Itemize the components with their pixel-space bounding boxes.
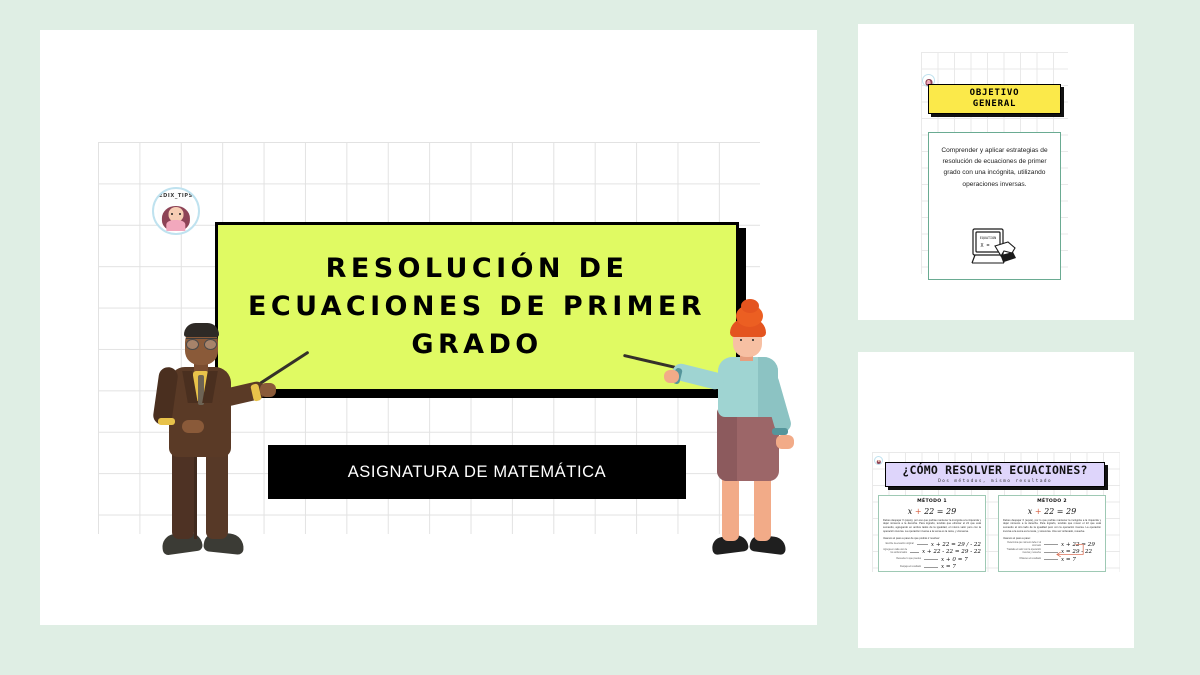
method-2-eq-op: + [1035,507,1042,516]
subtitle-text: ASIGNATURA DE MATEMÁTICA [348,463,607,482]
step-dash [917,544,928,545]
objective-title-box[interactable]: OBJETIVO GENERAL [928,84,1061,114]
method-1-description: Debes despejar X (equis), por eso que po… [883,519,981,535]
glasses-icon [186,338,217,348]
badge-eye-right [179,213,181,215]
method-2-card[interactable]: MÉTODO 2 x + 22 = 29 Debes despejar X (e… [998,495,1106,572]
tablet-equation-hand-icon: EQUATION X = [968,225,1022,267]
method-2-note: Veamos el paso a paso: [1003,537,1101,540]
step-row: Despeja el resultado x = 7 [883,564,981,570]
hair [184,323,219,337]
method-2-steps: Determina qué número debe ir al otro lad… [1003,542,1101,563]
methods-header-box[interactable]: ¿CÓMO RESOLVER ECUACIONES? Dos métodos, … [885,462,1105,487]
male-teacher-illustration [160,313,260,553]
hand-left [182,420,204,433]
step-row: Determina qué número debe ir al otro lad… [1003,542,1101,548]
leg-right [206,447,228,539]
step-equation: x = 7 [941,564,956,570]
method-1-eq-left: x [908,507,913,516]
step-label: Resuelve lo que puedes [883,558,921,561]
objective-card[interactable]: Comprender y aplicar estrategias de reso… [928,132,1061,280]
hand-right [776,435,794,449]
step-label: Obtienes el resultado [1003,558,1041,561]
step-row: Obtienes el resultado x = 7 [1003,557,1101,563]
objective-body-text: Comprender y aplicar estrategias de reso… [937,145,1052,190]
method-1-eq-right: 22 = 29 [924,507,956,516]
page-title: RESOLUCIÓN DE ECUACIONES DE PRIMER GRADO [236,250,718,365]
subtitle-bar[interactable]: ASIGNATURA DE MATEMÁTICA [268,445,686,499]
leg-right [754,475,771,541]
svg-text:EQUATION: EQUATION [979,236,995,240]
step-dash [924,559,938,560]
step-equation: x + 0 = 7 [941,557,968,563]
method-2-description: Debes despejar X (equis), por lo que pod… [1003,519,1101,535]
step-equation: x + 22 = 29 [1061,542,1095,548]
objective-slide-panel[interactable]: OBJETIVO GENERAL Comprender y aplicar es… [858,24,1134,320]
method-1-steps: Escribe la ecuación original x + 22 = 29… [883,542,981,571]
eye-left [740,339,742,342]
female-teacher-illustration [700,325,800,553]
step-dash [1044,544,1058,545]
step-equation: x + 22 - 22 = 29 - 22 [922,549,981,555]
step-equation: x + 22 = 29 / - 22 [931,542,981,548]
svg-text:X =: X = [980,243,989,249]
avatar-girl-icon [874,456,883,465]
step-dash [1044,559,1058,560]
skirt-shadow [717,407,737,481]
step-dash [1044,552,1058,553]
badge-body [166,220,185,231]
step-row: Traslada el valor con la operación inver… [1003,549,1101,555]
main-slide-panel[interactable]: EDIX_TIPS RESOLUCIÓN DE ECUACIONES DE PR… [40,30,817,625]
step-label: Traslada el valor con la operación inver… [1003,549,1041,555]
cuff-right [772,428,788,435]
badge-eye-left [171,213,173,215]
step-label: Despeja el resultado [883,566,921,569]
badge-label: EDIX_TIPS [154,193,198,199]
method-2-eq-right: 22 = 29 [1044,507,1076,516]
hair-bun-top [741,299,759,313]
leg-left [722,475,739,541]
method-1-eq-op: + [915,507,922,516]
methods-header-title: ¿CÓMO RESOLVER ECUACIONES? [902,465,1087,477]
cuff-left [158,418,175,425]
method-2-eq-left: x [1028,507,1033,516]
step-dash [924,567,938,568]
hand-right [260,383,276,397]
leg-left [172,447,194,539]
avatar-girl-icon: EDIX_TIPS [152,187,200,235]
step-dash [910,552,919,553]
hand-left [664,370,679,383]
objective-title: OBJETIVO GENERAL [970,88,1020,111]
step-row: Agrega en cada uno de los ambos lados x … [883,549,981,555]
step-row: Escribe la ecuación original x + 22 = 29… [883,542,981,548]
methods-header-subtitle: Dos métodos, mismo resultado [938,479,1052,484]
method-2-title: MÉTODO 2 [1003,499,1101,504]
step-label: Determina qué número debe ir al otro lad… [1003,542,1041,548]
main-slide-canvas: EDIX_TIPS RESOLUCIÓN DE ECUACIONES DE PR… [40,30,817,625]
method-1-card[interactable]: MÉTODO 1 x + 22 = 29 Debes despejar X (e… [878,495,986,572]
method-1-equation: x + 22 = 29 [883,507,981,516]
step-label: Escribe la ecuación original [883,543,914,546]
method-1-note: Veamos el paso a paso de que podrás ir r… [883,537,981,540]
title-box[interactable]: RESOLUCIÓN DE ECUACIONES DE PRIMER GRADO [215,222,739,392]
eye-right [752,339,754,342]
step-equation: x = 7 [1061,557,1076,563]
step-row: Resuelve lo que puedes x + 0 = 7 [883,557,981,563]
method-1-title: MÉTODO 1 [883,499,981,504]
method-2-equation: x + 22 = 29 [1003,507,1101,516]
step-label: Agrega en cada uno de los ambos lados [883,549,907,555]
methods-slide-panel[interactable]: ¿CÓMO RESOLVER ECUACIONES? Dos métodos, … [858,352,1134,648]
step-equation: x = 29 - 22 [1061,549,1092,555]
leg-split [194,447,197,539]
